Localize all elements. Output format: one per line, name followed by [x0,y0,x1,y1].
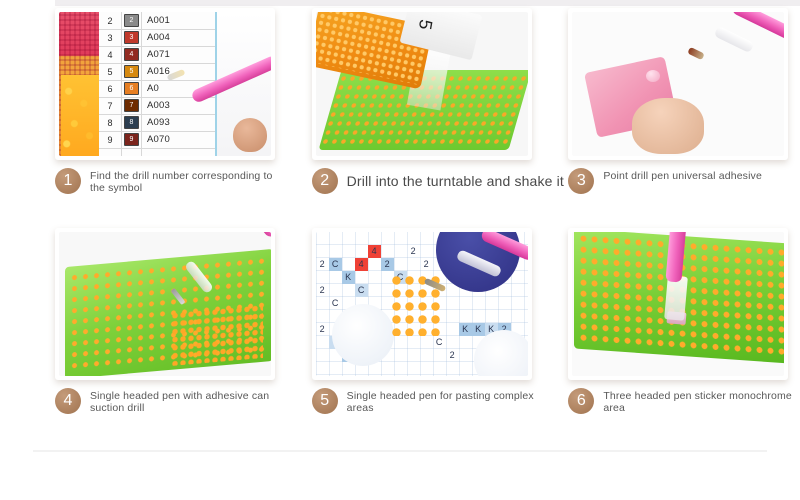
step-card-5: 2 C K C 4 4 2 C 2 2 2 C 2 K K 2 K [312,228,544,448]
step-card-4: 4 Single headed pen with adhesive can su… [55,228,287,448]
step-card-3: 3 Point drill pen universal adhesive [568,8,800,228]
step-card-1: 22A001 33A004 44A071 55A016 66A0 77A003 … [55,8,287,228]
step-caption-6: 6 Three headed pen sticker monochrome ar… [568,388,800,414]
colour-code-chart: 22A001 33A004 44A071 55A016 66A0 77A003 … [99,12,217,156]
step-card-6: 6 Three headed pen sticker monochrome ar… [568,228,800,448]
step-label-3: Point drill pen universal adhesive [603,168,762,183]
pen-adhesive-pad-photo [568,8,788,160]
step-caption-2: 2 Drill into the turntable and shake it [312,168,557,194]
step-caption-5: 5 Single headed pen for pasting complex … [312,388,557,414]
step-badge-5: 5 [312,388,338,414]
printed-white-bead [332,304,394,366]
pen-barrel [714,26,755,53]
loose-drill-pile [171,304,263,366]
top-divider-band [55,0,800,6]
step-badge-1: 1 [55,168,81,194]
step-label-4: Single headed pen with adhesive can suct… [90,388,290,414]
drill-number-chart-photo: 22A001 33A004 44A071 55A016 66A0 77A003 … [55,8,275,160]
step-label-2: Drill into the turntable and shake it [347,168,562,194]
hand-fingers [632,98,704,154]
step-caption-3: 3 Point drill pen universal adhesive [568,168,800,194]
step-label-5: Single headed pen for pasting complex ar… [347,388,547,414]
pen-pasting-canvas-photo: 2 C K C 4 4 2 C 2 2 2 C 2 K K 2 K [312,228,532,380]
step-label-6: Three headed pen sticker monochrome area [603,388,800,414]
orange-drills-mass [61,75,99,156]
step-card-2: 5 2 Drill into the turntable and shake i… [312,8,544,228]
three-headed-pen-photo [568,228,788,380]
steps-grid: 22A001 33A004 44A071 55A016 66A0 77A003 … [0,8,800,448]
step-caption-1: 1 Find the drill number corresponding to… [55,168,300,194]
pen-tip [688,47,705,60]
hand-thumb [233,118,267,152]
bottom-divider [33,450,767,452]
steps-row-2: 4 Single headed pen with adhesive can su… [0,228,800,448]
step-label-1: Find the drill number corresponding to t… [90,168,290,194]
step-badge-4: 4 [55,388,81,414]
step-badge-3: 3 [568,168,594,194]
steps-row-1: 22A001 33A004 44A071 55A016 66A0 77A003 … [0,8,800,228]
pour-drills-into-tray-photo: 5 [312,8,532,160]
single-pen-suction-photo [55,228,275,380]
step-badge-6: 6 [568,388,594,414]
step-caption-4: 4 Single headed pen with adhesive can su… [55,388,300,414]
step-badge-2: 2 [312,168,338,194]
pink-pen [218,232,271,239]
